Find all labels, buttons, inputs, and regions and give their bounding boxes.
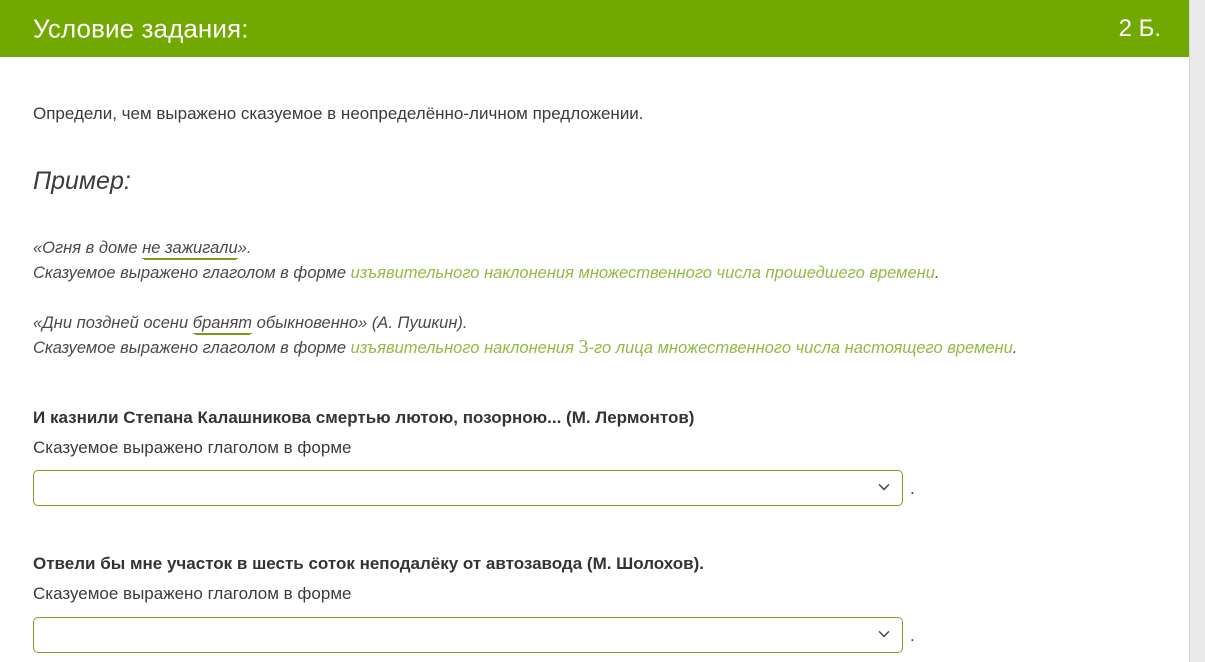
answer-row: .: [33, 617, 1156, 653]
question-sentence: Отвели бы мне участок в шесть соток непо…: [33, 552, 1156, 576]
task-page: Условие задания: 2 Б. Определи, чем выра…: [0, 0, 1189, 662]
answer-select[interactable]: [33, 617, 903, 653]
trailing-punctuation: .: [910, 480, 915, 497]
answer-select[interactable]: [33, 470, 903, 506]
example-explanation: Сказуемое выражено глаголом в форме изъя…: [33, 261, 1156, 287]
page-title: Условие задания:: [33, 13, 249, 44]
predicate-underline: не зажигали: [142, 239, 237, 259]
example-quote: «Огня в доме не зажигали».: [33, 236, 1156, 262]
question-item: Отвели бы мне участок в шесть соток непо…: [33, 552, 1156, 653]
question-sub-label: Сказуемое выражено глаголом в форме: [33, 436, 1156, 460]
explanation-highlight-part2: -го лица множественного числа настоящего…: [589, 339, 1013, 357]
example-explanation: Сказуемое выражено глаголом в форме изъя…: [33, 336, 1156, 362]
explanation-highlight-part1: изъявительного наклонения: [351, 339, 579, 357]
explanation-prefix: Сказуемое выражено глаголом в форме: [33, 264, 351, 282]
quote-text-after: обыкновенно» (А. Пушкин).: [252, 314, 467, 332]
predicate-underline: бранят: [193, 314, 252, 334]
question-sub-label: Сказуемое выражено глаголом в форме: [33, 582, 1156, 606]
answer-select-wrapper[interactable]: [33, 617, 903, 653]
explanation-number: 3: [579, 336, 589, 358]
answer-select-wrapper[interactable]: [33, 470, 903, 506]
task-header: Условие задания: 2 Б.: [0, 0, 1189, 57]
example-heading: Пример:: [33, 166, 1156, 196]
answer-row: .: [33, 470, 1156, 506]
quote-text-before: «Дни поздней осени: [33, 314, 193, 332]
task-prompt: Определи, чем выражено сказуемое в неопр…: [33, 102, 1156, 127]
example-item: «Дни поздней осени бранят обыкновенно» (…: [33, 311, 1156, 362]
quote-text-before: «Огня в доме: [33, 239, 142, 257]
explanation-suffix: .: [1013, 339, 1018, 357]
trailing-punctuation: .: [910, 627, 915, 644]
task-content: Определи, чем выражено сказуемое в неопр…: [0, 57, 1189, 653]
quote-text-after: ».: [238, 239, 252, 257]
example-item: «Огня в доме не зажигали». Сказуемое выр…: [33, 236, 1156, 287]
explanation-suffix: .: [935, 264, 940, 282]
explanation-highlight: изъявительного наклонения множественного…: [351, 264, 935, 282]
points-badge: 2 Б.: [1119, 15, 1161, 43]
explanation-prefix: Сказуемое выражено глаголом в форме: [33, 339, 351, 357]
question-sentence: И казнили Степана Калашникова смертью лю…: [33, 406, 1156, 430]
vertical-scrollbar[interactable]: [1189, 0, 1205, 662]
example-quote: «Дни поздней осени бранят обыкновенно» (…: [33, 311, 1156, 337]
question-item: И казнили Степана Калашникова смертью лю…: [33, 406, 1156, 507]
